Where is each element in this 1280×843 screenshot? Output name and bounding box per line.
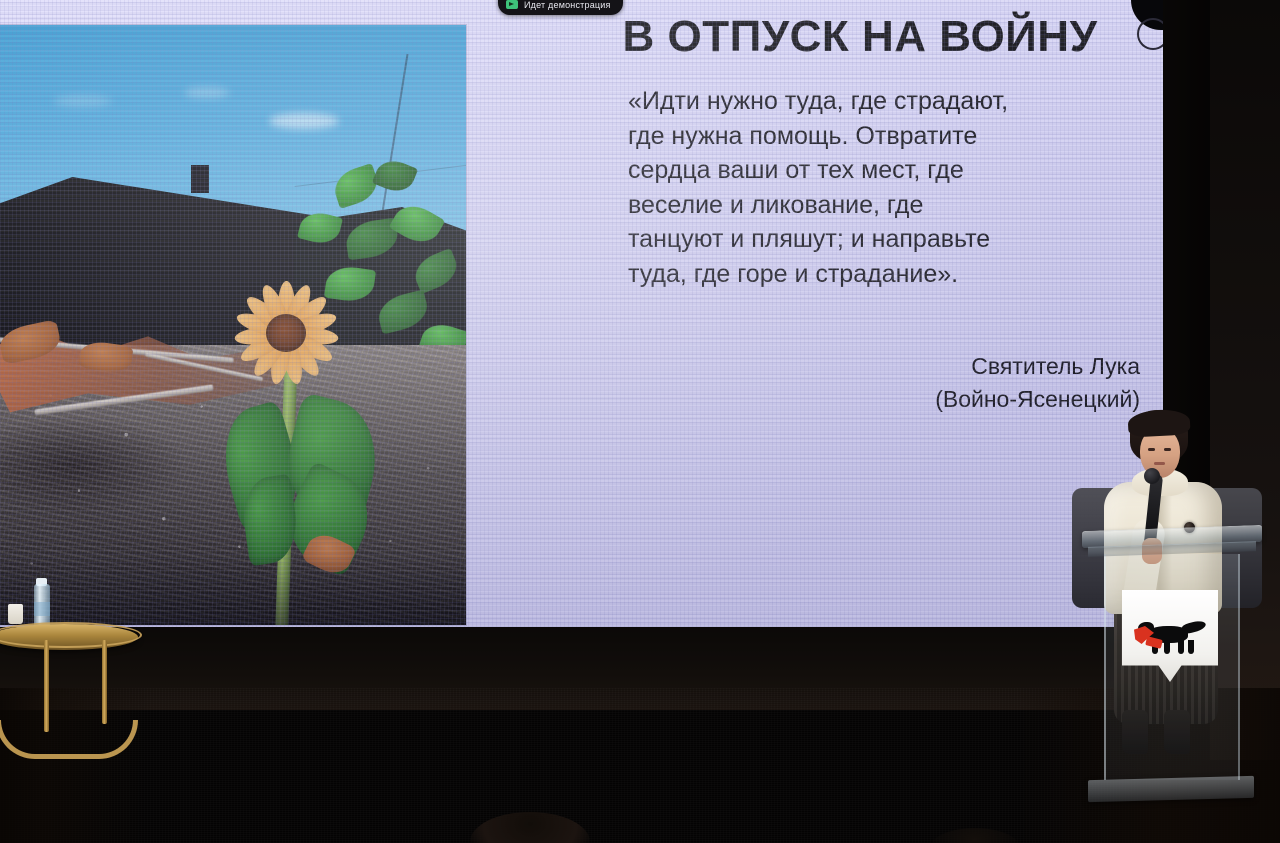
photo-leaf — [389, 198, 446, 250]
marten-emblem — [1134, 616, 1206, 656]
led-presentation-screen: В ОТПУСК НА ВОЙНУ «Идти нужно туда, где … — [0, 0, 1163, 627]
photo-leaf — [375, 289, 432, 334]
marten-leg — [1178, 640, 1184, 654]
marten-leg — [1188, 640, 1194, 654]
attribution-line: Святитель Лука — [700, 350, 1140, 383]
speaker-eye — [1164, 448, 1171, 451]
paper-cup — [8, 604, 23, 624]
table-base-ring — [0, 720, 138, 759]
microphone-head — [1144, 468, 1160, 484]
quote-line: туда, где горе и страдание». — [628, 257, 1128, 292]
table-leg — [102, 640, 107, 724]
quote-line: танцуют и пляшут; и направьте — [628, 222, 1128, 257]
photo-cloud — [269, 113, 339, 129]
screen-corner-ring-icon — [1137, 18, 1163, 50]
quote-line: «Идти нужно туда, где страдают, — [628, 84, 1128, 119]
photo-leaf — [330, 163, 382, 209]
photo-leaf — [372, 155, 418, 197]
quote-line: сердца ваши от тех мест, где — [628, 153, 1128, 188]
screen-sharing-label: Идет демонстрация — [524, 0, 611, 10]
photo-leaf — [410, 248, 463, 294]
photo-chimney — [191, 165, 209, 193]
photo-leaf — [297, 209, 343, 248]
side-table — [0, 612, 150, 762]
speaker-eye — [1148, 448, 1155, 451]
photo-cloud — [184, 87, 230, 98]
photo-flower-center — [266, 314, 306, 352]
quote-line: веселие и ликование, где — [628, 188, 1128, 223]
screen-sharing-indicator[interactable]: Идет демонстрация — [498, 0, 623, 15]
table-leg — [44, 640, 49, 732]
lectern-base — [1088, 776, 1254, 802]
speaker-hair-fringe — [1127, 408, 1190, 437]
slide-title: В ОТПУСК НА ВОЙНУ — [560, 14, 1160, 60]
photo-sunflower-bloom — [226, 273, 346, 393]
slide-quote: «Идти нужно туда, где страдают, где нужн… — [628, 84, 1128, 291]
photo-cloud — [54, 95, 112, 107]
water-bottle-label — [34, 602, 50, 616]
screen-share-icon — [506, 0, 518, 9]
marten-leg — [1164, 640, 1170, 654]
speaker-mouth — [1154, 462, 1165, 465]
quote-line: где нужна помощь. Отвратите — [628, 119, 1128, 154]
acrylic-lectern — [1086, 528, 1258, 808]
sunflower-in-ruins-photo — [0, 25, 466, 625]
speaker-at-lectern — [1060, 400, 1280, 843]
conference-stage-scene: В ОТПУСК НА ВОЙНУ «Идти нужно туда, где … — [0, 0, 1280, 843]
